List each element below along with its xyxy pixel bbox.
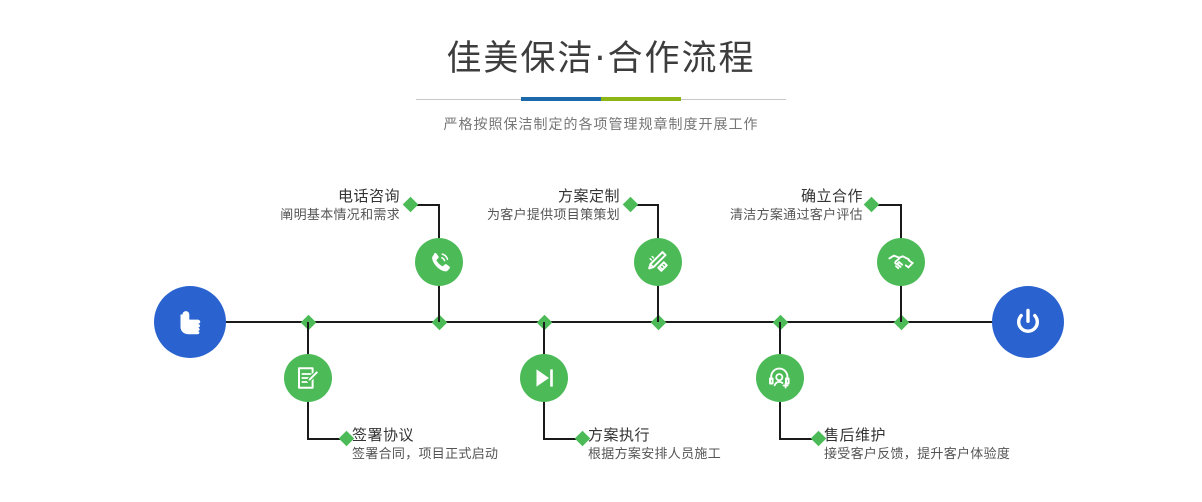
divider-segment-green xyxy=(601,97,681,101)
step-label-1: 电话咨询 阐明基本情况和需求 xyxy=(170,186,400,226)
step-label-5: 确立合作 清洁方案通过客户评估 xyxy=(645,186,863,226)
handshake-icon xyxy=(887,248,915,276)
step-title-3: 方案定制 xyxy=(400,186,620,206)
step-label-2: 签署协议 签署合同，项目正式启动 xyxy=(352,425,612,465)
flow-infographic: 佳美保洁·合作流程 严格按照保洁制定的各项管理规章制度开展工作 xyxy=(0,0,1202,502)
label-marker-5 xyxy=(864,197,880,213)
header: 佳美保洁·合作流程 严格按照保洁制定的各项管理规章制度开展工作 xyxy=(0,0,1202,134)
step-title-2: 签署协议 xyxy=(352,425,612,445)
power-icon xyxy=(1008,302,1048,342)
step-desc-1: 阐明基本情况和需求 xyxy=(170,206,400,226)
phone-icon xyxy=(425,248,453,276)
step-desc-5: 清洁方案通过客户评估 xyxy=(645,206,863,226)
step-title-1: 电话咨询 xyxy=(170,186,400,206)
step-icon-4[interactable] xyxy=(520,354,568,402)
label-marker-3 xyxy=(623,197,639,213)
page-title: 佳美保洁·合作流程 xyxy=(0,38,1202,80)
step-label-4: 方案执行 根据方案安排人员施工 xyxy=(588,425,848,465)
timeline-end-node[interactable] xyxy=(992,286,1064,358)
pointing-hand-icon xyxy=(170,302,210,342)
step-icon-1[interactable] xyxy=(415,238,463,286)
document-edit-icon xyxy=(294,364,322,392)
step-desc-4: 根据方案安排人员施工 xyxy=(588,445,848,465)
play-skip-icon xyxy=(530,364,558,392)
step-desc-6: 接受客户反馈，提升客户体验度 xyxy=(824,445,1104,465)
step-icon-2[interactable] xyxy=(284,354,332,402)
step-title-4: 方案执行 xyxy=(588,425,848,445)
step-icon-6[interactable] xyxy=(756,354,804,402)
divider-segment-blue xyxy=(521,97,601,101)
step-title-6: 售后维护 xyxy=(824,425,1104,445)
step-desc-2: 签署合同，项目正式启动 xyxy=(352,445,612,465)
step-title-5: 确立合作 xyxy=(645,186,863,206)
page-subtitle: 严格按照保洁制定的各项管理规章制度开展工作 xyxy=(0,114,1202,134)
step-label-6: 售后维护 接受客户反馈，提升客户体验度 xyxy=(824,425,1104,465)
step-label-3: 方案定制 为客户提供项目策策划 xyxy=(400,186,620,226)
step-desc-3: 为客户提供项目策策划 xyxy=(400,206,620,226)
timeline-start-node[interactable] xyxy=(154,286,226,358)
support-agent-icon xyxy=(766,364,794,392)
step-icon-5[interactable] xyxy=(877,238,925,286)
title-divider xyxy=(0,94,1202,106)
step-icon-3[interactable] xyxy=(634,238,682,286)
pencil-ruler-icon xyxy=(644,248,672,276)
